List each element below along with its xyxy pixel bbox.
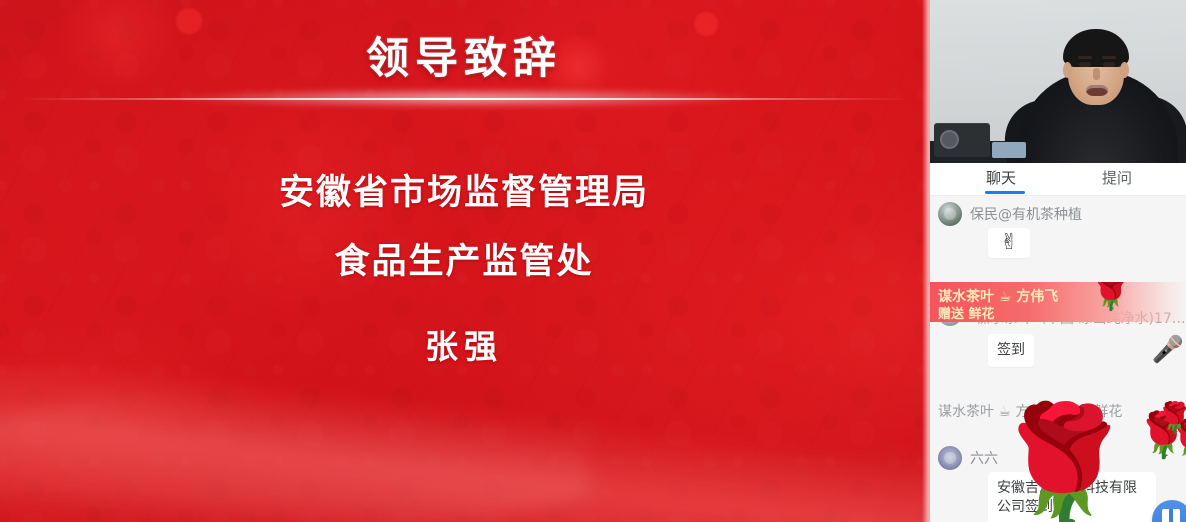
chat-bubble: 签到 (988, 334, 1034, 367)
slide-speaker-name: 张强 (0, 320, 928, 368)
panel-tabs: 聊天 提问 (930, 163, 1186, 196)
meeting-screen: 领导致辞 安徽省市场监督管理局 食品生产监管处 张强 (0, 0, 1186, 522)
slide-divider (0, 96, 928, 102)
person-ear-right (1120, 62, 1129, 78)
gift-notification-banner: 谋水茶叶 ☕ 方伟飞 赠送 鲜花 🌹 (930, 282, 1186, 322)
person-eyebrow-right (1102, 56, 1116, 59)
gift-send-button[interactable] (1152, 500, 1186, 522)
right-panel: 聊天 提问 保民@有机茶种植 ✌ 谋水茶叶（中国·凉山纯净水)17… 谋水茶叶 … (928, 0, 1186, 522)
chat-system-line: 谋水茶叶 ☕ 方伟飞 赠送 鲜花 (938, 401, 1184, 421)
slide-org-line-2: 食品生产监管处 (0, 245, 928, 280)
person-eyebrow-left (1078, 56, 1092, 59)
tab-active-indicator (985, 191, 1025, 194)
slide-title: 领导致辞 (0, 24, 928, 86)
avatar (938, 446, 962, 470)
rose-icon: 🌹 (1090, 282, 1132, 310)
gift-mic-icon-wrap: 🎤 (1148, 336, 1186, 362)
person-eye-left (1079, 62, 1091, 67)
chat-message-list[interactable]: 保民@有机茶种植 ✌ 谋水茶叶（中国·凉山纯净水)17… 谋水茶叶 ☕ 方伟飞 … (930, 196, 1186, 522)
shared-slide: 领导致辞 安徽省市场监督管理局 食品生产监管处 张强 (0, 0, 928, 522)
person-eye-right (1103, 62, 1115, 67)
desk-monitor (934, 123, 990, 157)
person-ear-left (1063, 62, 1072, 78)
gift-button-glyph (1162, 509, 1180, 522)
slide-body: 安徽省市场监督管理局 食品生产监管处 张强 (0, 176, 928, 368)
slide-org-line-1: 安徽省市场监督管理局 (0, 176, 928, 211)
person-mouth (1086, 85, 1108, 96)
divider-line (19, 98, 910, 100)
person-nose (1093, 68, 1100, 80)
avatar (938, 202, 962, 226)
chat-username: 六六 (970, 448, 998, 468)
chat-bubble: 安徽吉源生物科技有限公司签到 (988, 472, 1156, 522)
desk-object (992, 142, 1026, 158)
slide-right-edge (922, 0, 928, 522)
tab-chat[interactable]: 聊天 (986, 167, 1016, 188)
gift-banner-action: 赠送 鲜花 (938, 303, 995, 322)
microphone-icon: 🎤 (1148, 336, 1186, 362)
rose-animation-icon: 🌹 (1168, 422, 1186, 460)
chat-bubble-emoji: ✌ (988, 228, 1030, 258)
speaker-video-tile[interactable] (930, 0, 1186, 163)
tab-questions[interactable]: 提问 (1102, 167, 1132, 188)
chat-username: 保民@有机茶种植 (970, 204, 1082, 224)
